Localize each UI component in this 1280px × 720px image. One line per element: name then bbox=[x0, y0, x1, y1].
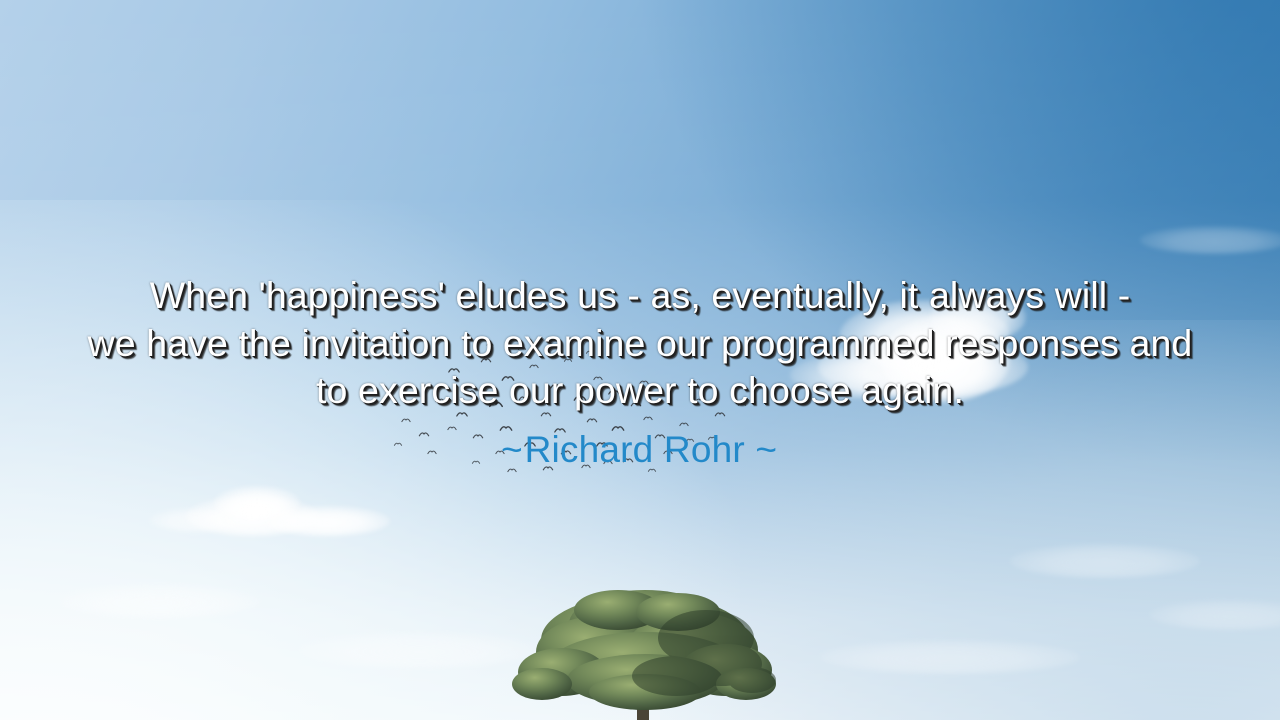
tilde-suffix: ~ bbox=[755, 429, 779, 470]
author-name: Richard Rohr bbox=[525, 429, 745, 470]
quote-line-1: When 'happiness' eludes us - as, eventua… bbox=[0, 272, 1280, 320]
quote-line-3: to exercise our power to choose again. bbox=[0, 367, 1280, 415]
author-attribution: ~Richard Rohr ~ bbox=[0, 427, 1280, 473]
quote-wallpaper: When 'happiness' eludes us - as, eventua… bbox=[0, 0, 1280, 720]
tilde-prefix: ~ bbox=[501, 429, 525, 470]
quote-block: When 'happiness' eludes us - as, eventua… bbox=[0, 272, 1280, 473]
quote-line-2: we have the invitation to examine our pr… bbox=[0, 320, 1280, 368]
tree-icon bbox=[500, 580, 790, 720]
